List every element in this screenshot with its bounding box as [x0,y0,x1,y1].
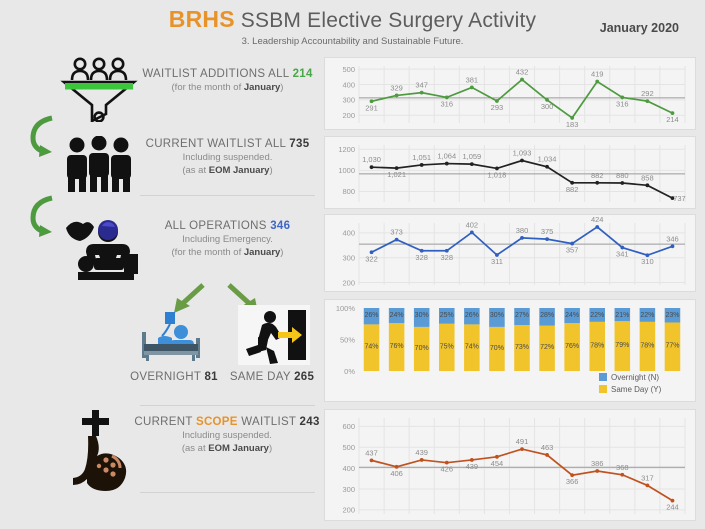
current-waitlist-value: 735 [289,138,309,150]
funnel-people-icon [60,56,138,127]
svg-text:400: 400 [342,80,355,89]
svg-text:76%: 76% [565,343,579,350]
current-waitlist-block: CURRENT WAITLIST ALL 735 Including suspe… [135,138,320,176]
svg-text:439: 439 [466,462,479,471]
svg-text:1,030: 1,030 [362,155,381,164]
divider-2 [140,405,315,406]
curved-arrow-down-icon-2 [26,192,60,243]
svg-text:244: 244 [666,503,679,512]
overnight-value: 81 [204,371,217,383]
surgery-icon [58,214,138,289]
svg-text:880: 880 [616,171,629,180]
svg-text:75%: 75% [440,343,454,350]
scope-waitlist-label: CURRENT SCOPE WAITLIST 243 [132,416,322,428]
svg-text:317: 317 [641,473,654,482]
infographic-page: BRHS SSBM Elective Surgery Activity 3. L… [0,0,705,529]
svg-text:316: 316 [441,99,454,108]
svg-text:406: 406 [390,469,403,478]
svg-text:30%: 30% [490,312,504,319]
svg-text:424: 424 [591,215,604,224]
svg-text:1200: 1200 [338,145,355,154]
chart-waitlist-additions[interactable]: 2003004005002913293473163812934323001834… [324,57,696,130]
brand-name: BRHS [169,6,235,32]
svg-text:70%: 70% [490,345,504,352]
svg-text:73%: 73% [515,344,529,351]
svg-text:500: 500 [342,65,355,74]
svg-text:800: 800 [342,187,355,196]
svg-text:Same Day (Y): Same Day (Y) [611,385,662,394]
svg-text:293: 293 [491,103,504,112]
scope-waitlist-block: CURRENT SCOPE WAITLIST 243 Including sus… [132,416,322,454]
svg-text:386: 386 [591,459,604,468]
page-subtitle: 3. Leadership Accountability and Sustain… [0,36,705,47]
same-day-label: SAME DAY 265 [222,371,322,383]
svg-text:74%: 74% [365,344,379,351]
svg-text:439: 439 [415,448,428,457]
svg-text:882: 882 [591,171,604,180]
svg-text:21%: 21% [615,312,629,319]
waitlist-additions-block: WAITLIST ADDITIONS ALL 214 (for the mont… [135,68,320,93]
title-text: SSBM Elective Surgery Activity [241,9,536,32]
scope-waitlist-sub1: Including suspended. [132,430,322,441]
scope-waitlist-value: 243 [300,416,320,428]
svg-text:419: 419 [591,70,604,79]
svg-text:737: 737 [673,194,686,203]
same-day-block: SAME DAY 265 [222,371,322,383]
svg-text:300: 300 [342,485,355,494]
svg-text:1,018: 1,018 [488,170,507,179]
svg-text:426: 426 [441,465,454,474]
svg-text:328: 328 [441,253,454,262]
chart-current-waitlist[interactable]: 800100012001,0301,0211,0511,0641,0591,01… [324,136,696,209]
svg-text:300: 300 [541,102,554,111]
svg-text:100%: 100% [336,304,356,313]
svg-text:77%: 77% [665,343,679,350]
svg-text:79%: 79% [615,342,629,349]
current-waitlist-sub1: Including suspended. [135,152,320,163]
svg-text:22%: 22% [640,312,654,319]
svg-text:1,093: 1,093 [513,149,532,158]
chart-all-operations[interactable]: 2003004003223733283284023113803753574243… [324,214,696,292]
svg-text:0%: 0% [344,367,355,376]
all-operations-sub1: Including Emergency. [135,234,320,245]
all-operations-sub2: (for the month of January) [135,247,320,258]
svg-text:402: 402 [466,220,479,229]
svg-text:491: 491 [516,437,529,446]
svg-text:24%: 24% [390,312,404,319]
svg-text:341: 341 [616,250,629,259]
svg-text:454: 454 [491,459,504,468]
svg-text:858: 858 [641,173,654,182]
svg-text:328: 328 [415,253,428,262]
svg-text:23%: 23% [665,312,679,319]
waitlist-additions-value: 214 [293,68,313,80]
all-operations-label: ALL OPERATIONS 346 [135,220,320,232]
svg-text:26%: 26% [365,312,379,319]
svg-text:600: 600 [342,422,355,431]
svg-text:200: 200 [342,111,355,120]
svg-text:72%: 72% [540,344,554,351]
svg-text:1,034: 1,034 [538,155,557,164]
svg-text:463: 463 [541,443,554,452]
all-operations-block: ALL OPERATIONS 346 Including Emergency. … [135,220,320,258]
svg-text:366: 366 [566,477,579,486]
svg-text:76%: 76% [390,343,404,350]
svg-text:1,059: 1,059 [462,152,481,161]
svg-text:1,051: 1,051 [412,153,431,162]
svg-text:400: 400 [342,229,355,238]
svg-text:200: 200 [342,506,355,515]
svg-text:70%: 70% [415,345,429,352]
scope-waitlist-sub2: (as at EOM January) [132,443,322,454]
svg-text:Overnight (N): Overnight (N) [611,373,659,382]
svg-text:316: 316 [616,99,629,108]
chart-overnight-sameday[interactable]: 0%50%100%26%74%24%76%30%70%25%75%26%74%3… [324,299,696,402]
svg-text:400: 400 [342,464,355,473]
report-period: January 2020 [600,21,679,35]
svg-text:22%: 22% [590,312,604,319]
svg-text:25%: 25% [440,312,454,319]
svg-text:381: 381 [466,75,479,84]
svg-text:437: 437 [365,448,378,457]
svg-text:30%: 30% [415,312,429,319]
divider-3 [140,492,315,493]
svg-text:357: 357 [566,246,579,255]
all-operations-value: 346 [270,220,290,232]
current-waitlist-label: CURRENT WAITLIST ALL 735 [135,138,320,150]
svg-text:291: 291 [365,103,378,112]
hospital-bed-icon [136,310,206,367]
svg-text:26%: 26% [465,312,479,319]
curved-arrow-down-icon-1 [26,112,60,163]
svg-text:300: 300 [342,254,355,263]
waitlist-additions-label: WAITLIST ADDITIONS ALL 214 [135,68,320,80]
scope-keyword: SCOPE [196,416,238,428]
svg-text:50%: 50% [340,335,355,344]
overnight-label: OVERNIGHT 81 [126,371,222,383]
svg-text:322: 322 [365,254,378,263]
svg-text:882: 882 [566,185,579,194]
people-group-icon [62,136,136,197]
svg-text:311: 311 [491,257,503,266]
svg-text:347: 347 [415,81,428,90]
svg-text:214: 214 [666,115,679,124]
svg-text:78%: 78% [640,342,654,349]
svg-text:292: 292 [641,89,654,98]
waitlist-additions-sub: (for the month of January) [135,82,320,93]
svg-text:200: 200 [342,278,355,287]
svg-text:1,021: 1,021 [387,170,406,179]
divider-1 [140,195,315,196]
same-day-value: 265 [294,371,314,383]
svg-text:28%: 28% [540,312,554,319]
svg-text:1000: 1000 [338,166,355,175]
svg-text:300: 300 [342,96,355,105]
svg-text:27%: 27% [515,312,529,319]
svg-text:500: 500 [342,443,355,452]
svg-text:380: 380 [516,226,529,235]
svg-text:74%: 74% [465,344,479,351]
svg-text:329: 329 [390,83,403,92]
svg-text:78%: 78% [590,342,604,349]
svg-text:346: 346 [666,234,679,243]
exit-running-icon [238,305,310,370]
svg-text:310: 310 [641,257,654,266]
chart-scope-waitlist[interactable]: 2003004005006004374064394264394544914633… [324,409,696,521]
overnight-block: OVERNIGHT 81 [126,371,222,383]
svg-text:373: 373 [390,228,403,237]
svg-text:183: 183 [566,120,579,129]
svg-text:368: 368 [616,463,629,472]
svg-text:1,064: 1,064 [437,152,456,161]
svg-text:375: 375 [541,227,554,236]
current-waitlist-sub2: (as at EOM January) [135,165,320,176]
svg-text:432: 432 [516,68,529,77]
stomach-scope-icon [62,408,134,499]
svg-text:24%: 24% [565,312,579,319]
